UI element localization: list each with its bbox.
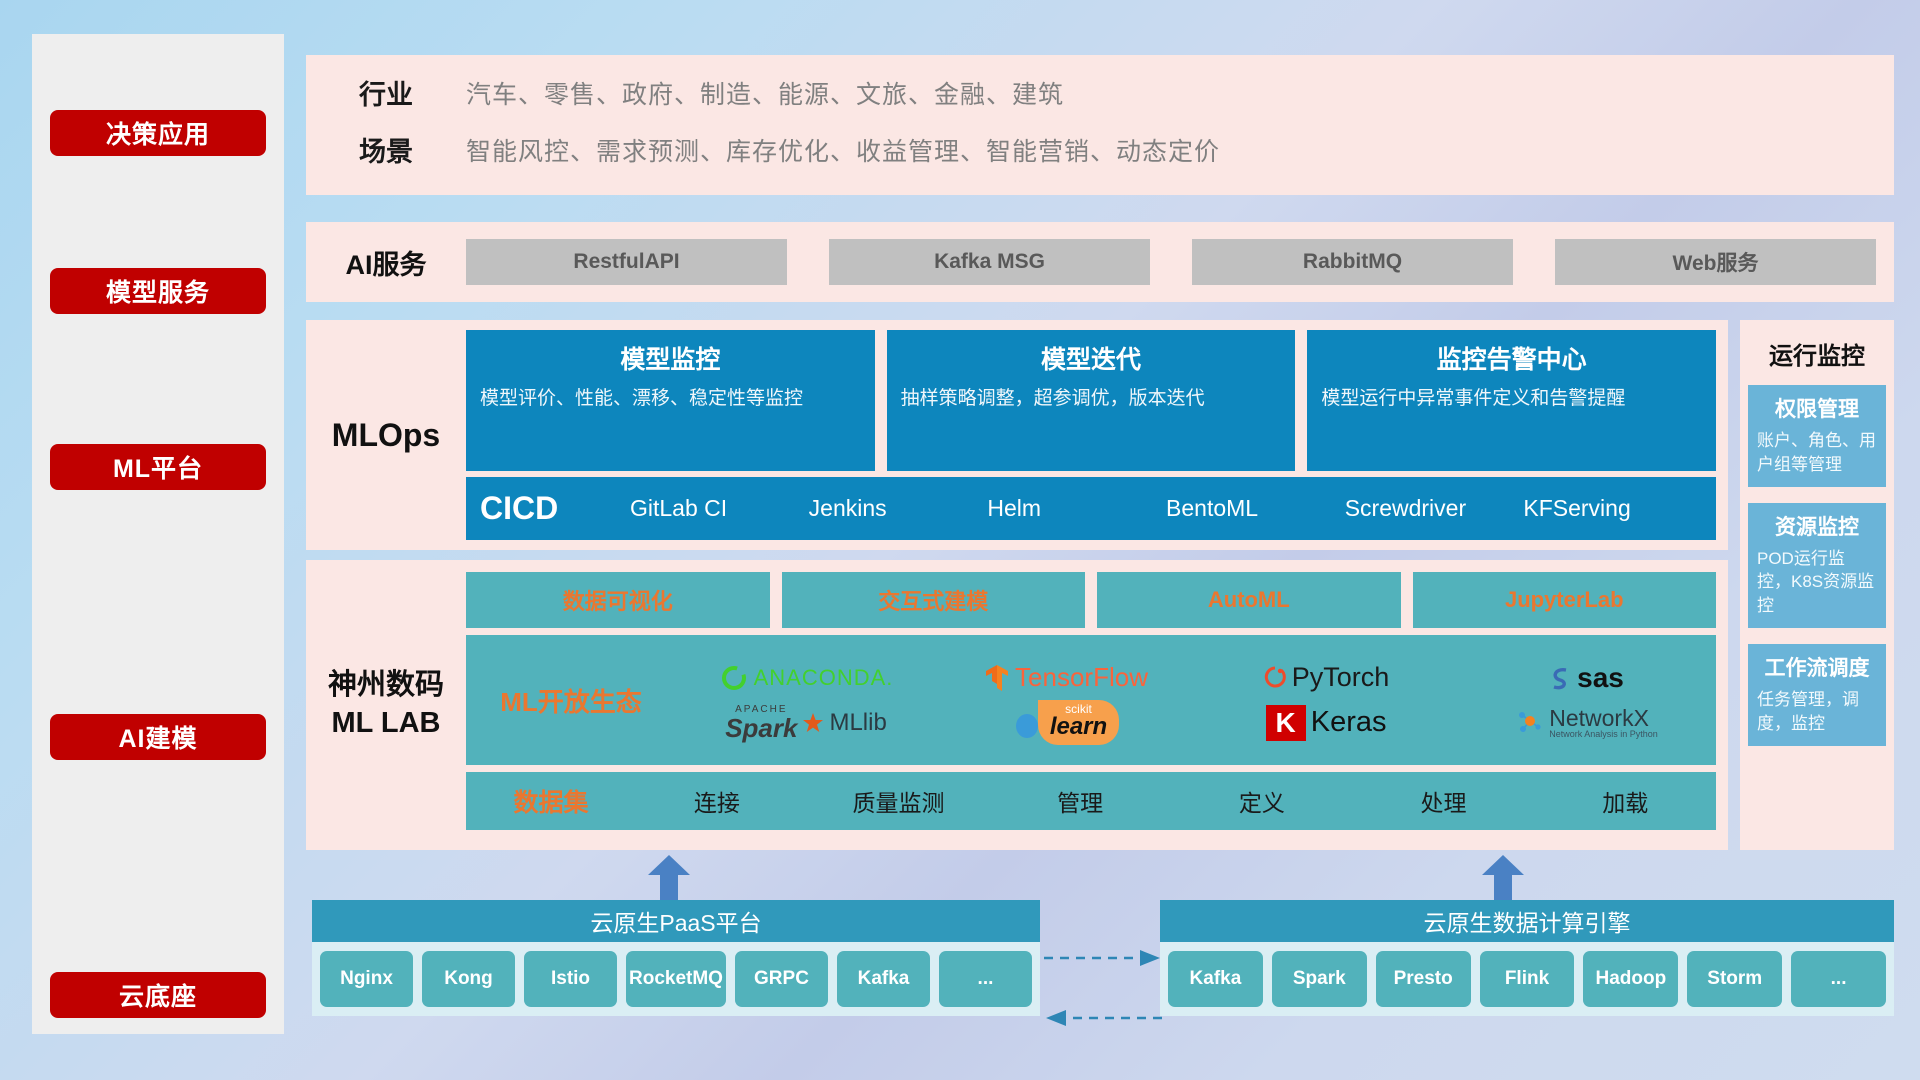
- paas-chip-more[interactable]: ...: [939, 951, 1032, 1007]
- card-title: 模型监控: [480, 340, 861, 376]
- lab-tab-jupyterlab[interactable]: JupyterLab: [1413, 572, 1717, 628]
- ml-lab-label-line2: ML LAB: [331, 705, 440, 743]
- rail-item-model-service[interactable]: 模型服务: [50, 268, 266, 314]
- mlops-label: MLOps: [306, 320, 466, 550]
- paas-chip-grpc[interactable]: GRPC: [735, 951, 828, 1007]
- spark-mllib-logo: APACHE Spark MLlib: [676, 705, 936, 741]
- lab-tab-automl[interactable]: AutoML: [1097, 572, 1401, 628]
- engine-chip-more[interactable]: ...: [1791, 951, 1886, 1007]
- dataset-item-manage[interactable]: 管理: [989, 784, 1171, 818]
- card-title: 模型迭代: [901, 340, 1282, 376]
- service-chip-rabbitmq[interactable]: RabbitMQ: [1192, 239, 1513, 285]
- ml-lab-band: 神州数码 ML LAB 数据可视化 交互式建模 AutoML JupyterLa…: [306, 560, 1728, 850]
- keras-mark: K: [1266, 705, 1306, 741]
- cloud-paas-panel: 云原生PaaS平台 Nginx Kong Istio RocketMQ GRPC…: [312, 900, 1040, 1016]
- cicd-item-jenkins[interactable]: Jenkins: [809, 495, 988, 521]
- layer-rail: 决策应用 模型服务 ML平台 AI建模 云底座: [32, 34, 284, 1034]
- cicd-item-screwdriver[interactable]: Screwdriver: [1345, 495, 1524, 521]
- cicd-title: CICD: [480, 490, 630, 527]
- cloud-engine-title: 云原生数据计算引擎: [1160, 900, 1894, 942]
- ai-service-band: AI服务 RestfulAPI Kafka MSG RabbitMQ Web服务: [306, 222, 1894, 302]
- card-desc: 抽样策略调整，超参调优，版本迭代: [901, 386, 1282, 413]
- monitor-card-resource[interactable]: 资源监控 POD运行监控，K8S资源监控: [1748, 503, 1886, 628]
- engine-chip-storm[interactable]: Storm: [1687, 951, 1782, 1007]
- scikit-learn-logo: scikit learn: [936, 700, 1196, 745]
- mllib-label: MLlib: [829, 709, 886, 737]
- dataset-title: 数据集: [476, 783, 626, 819]
- bidirectional-connectors: [1040, 940, 1166, 1040]
- paas-up-arrow-icon: [648, 855, 690, 903]
- ml-lab-label-line1: 神州数码: [328, 667, 444, 705]
- monitor-card-workflow[interactable]: 工作流调度 任务管理，调度，监控: [1748, 644, 1886, 746]
- keras-logo: K Keras: [1196, 705, 1456, 741]
- tensorflow-label: TensorFlow: [1015, 662, 1148, 693]
- ml-lab-label: 神州数码 ML LAB: [306, 560, 466, 850]
- networkx-sub: Network Analysis in Python: [1549, 730, 1658, 739]
- tensorflow-mark: [984, 663, 1010, 693]
- mlops-card-model-monitoring[interactable]: 模型监控 模型评价、性能、漂移、稳定性等监控: [466, 330, 875, 471]
- engine-chip-spark[interactable]: Spark: [1272, 951, 1367, 1007]
- scikit-main: learn: [1050, 715, 1107, 739]
- mlops-card-model-iteration[interactable]: 模型迭代 抽样策略调整，超参调优，版本迭代: [887, 330, 1296, 471]
- dataset-bar: 数据集 连接 质量监测 管理 定义 处理 加载: [466, 772, 1716, 830]
- pytorch-label: PyTorch: [1292, 662, 1390, 693]
- scenario-row: 场景 智能风控、需求预测、库存优化、收益管理、智能营销、动态定价: [306, 130, 1894, 169]
- sas-label: sas: [1577, 662, 1624, 694]
- networkx-label: NetworkX: [1549, 706, 1658, 730]
- industry-row: 行业 汽车、零售、政府、制造、能源、文旅、金融、建筑: [306, 73, 1894, 112]
- pytorch-logo: PyTorch: [1196, 662, 1456, 693]
- service-chip-web[interactable]: Web服务: [1555, 239, 1876, 285]
- engine-chip-hadoop[interactable]: Hadoop: [1583, 951, 1678, 1007]
- card-title: 监控告警中心: [1321, 340, 1702, 376]
- runtime-monitoring-band: 运行监控 权限管理 账户、角色、用户组等管理 资源监控 POD运行监控，K8S资…: [1740, 320, 1894, 850]
- dataset-item-connect[interactable]: 连接: [626, 784, 808, 818]
- service-chip-restfulapi[interactable]: RestfulAPI: [466, 239, 787, 285]
- networkx-mark: [1514, 707, 1544, 737]
- card-title: 工作流调度: [1757, 652, 1877, 682]
- cicd-item-helm[interactable]: Helm: [987, 495, 1166, 521]
- rail-item-ai-modeling[interactable]: AI建模: [50, 714, 266, 760]
- paas-chip-istio[interactable]: Istio: [524, 951, 617, 1007]
- spark-main: Spark: [725, 715, 797, 741]
- engine-chip-presto[interactable]: Presto: [1376, 951, 1471, 1007]
- mlops-card-alert-center[interactable]: 监控告警中心 模型运行中异常事件定义和告警提醒: [1307, 330, 1716, 471]
- rail-item-ml-platform[interactable]: ML平台: [50, 444, 266, 490]
- card-desc: 任务管理，调度，监控: [1757, 688, 1877, 736]
- paas-chip-kafka[interactable]: Kafka: [837, 951, 930, 1007]
- ml-ecosystem-label: ML开放生态: [466, 682, 676, 719]
- industry-value: 汽车、零售、政府、制造、能源、文旅、金融、建筑: [466, 75, 1064, 111]
- dataset-item-process[interactable]: 处理: [1353, 784, 1535, 818]
- paas-chip-kong[interactable]: Kong: [422, 951, 515, 1007]
- lab-tab-interactive-modeling[interactable]: 交互式建模: [782, 572, 1086, 628]
- pytorch-mark: [1263, 664, 1287, 692]
- monitor-card-permission[interactable]: 权限管理 账户、角色、用户组等管理: [1748, 385, 1886, 487]
- rail-item-cloud-base[interactable]: 云底座: [50, 972, 266, 1018]
- runtime-monitoring-title: 运行监控: [1748, 336, 1886, 371]
- scenario-label: 场景: [306, 130, 466, 169]
- lab-tab-data-visualization[interactable]: 数据可视化: [466, 572, 770, 628]
- industry-label: 行业: [306, 73, 466, 112]
- ml-ecosystem-bar: ML开放生态 ANACONDA.: [466, 635, 1716, 765]
- cloud-engine-panel: 云原生数据计算引擎 Kafka Spark Presto Flink Hadoo…: [1160, 900, 1894, 1016]
- card-desc: 模型评价、性能、漂移、稳定性等监控: [480, 386, 861, 413]
- sas-mark: [1548, 664, 1572, 692]
- card-desc: 模型运行中异常事件定义和告警提醒: [1321, 386, 1702, 413]
- engine-up-arrow-icon: [1482, 855, 1524, 903]
- card-title: 资源监控: [1757, 511, 1877, 541]
- cicd-item-bentoml[interactable]: BentoML: [1166, 495, 1345, 521]
- sas-logo: sas: [1456, 662, 1716, 694]
- paas-chip-rocketmq[interactable]: RocketMQ: [626, 951, 726, 1007]
- anaconda-logo: ANACONDA.: [676, 663, 936, 693]
- cicd-item-gitlab-ci[interactable]: GitLab CI: [630, 495, 809, 521]
- networkx-logo: NetworkX Network Analysis in Python: [1456, 706, 1716, 740]
- tensorflow-logo: TensorFlow: [936, 662, 1196, 693]
- card-desc: 账户、角色、用户组等管理: [1757, 429, 1877, 477]
- spark-star-icon: [802, 712, 824, 734]
- keras-label: Keras: [1311, 706, 1387, 739]
- card-desc: POD运行监控，K8S资源监控: [1757, 547, 1877, 618]
- applications-band: 行业 汽车、零售、政府、制造、能源、文旅、金融、建筑 场景 智能风控、需求预测、…: [306, 55, 1894, 195]
- engine-chip-flink[interactable]: Flink: [1480, 951, 1575, 1007]
- dataset-item-load[interactable]: 加载: [1534, 784, 1716, 818]
- anaconda-label: ANACONDA.: [754, 665, 894, 691]
- engine-chip-kafka[interactable]: Kafka: [1168, 951, 1263, 1007]
- anaconda-mark: [719, 663, 749, 693]
- cloud-paas-title: 云原生PaaS平台: [312, 900, 1040, 942]
- paas-chip-nginx[interactable]: Nginx: [320, 951, 413, 1007]
- cicd-bar: CICD GitLab CI Jenkins Helm BentoML Scre…: [466, 477, 1716, 540]
- scenario-value: 智能风控、需求预测、库存优化、收益管理、智能营销、动态定价: [466, 132, 1220, 168]
- dataset-item-quality[interactable]: 质量监测: [808, 784, 990, 818]
- card-title: 权限管理: [1757, 393, 1877, 423]
- mlops-band: MLOps 模型监控 模型评价、性能、漂移、稳定性等监控 模型迭代 抽样策略调整…: [306, 320, 1728, 550]
- dataset-item-define[interactable]: 定义: [1171, 784, 1353, 818]
- ai-service-label: AI服务: [306, 243, 466, 282]
- service-chip-kafka-msg[interactable]: Kafka MSG: [829, 239, 1150, 285]
- rail-item-decision-app[interactable]: 决策应用: [50, 110, 266, 156]
- cicd-item-kfserving[interactable]: KFServing: [1523, 495, 1702, 521]
